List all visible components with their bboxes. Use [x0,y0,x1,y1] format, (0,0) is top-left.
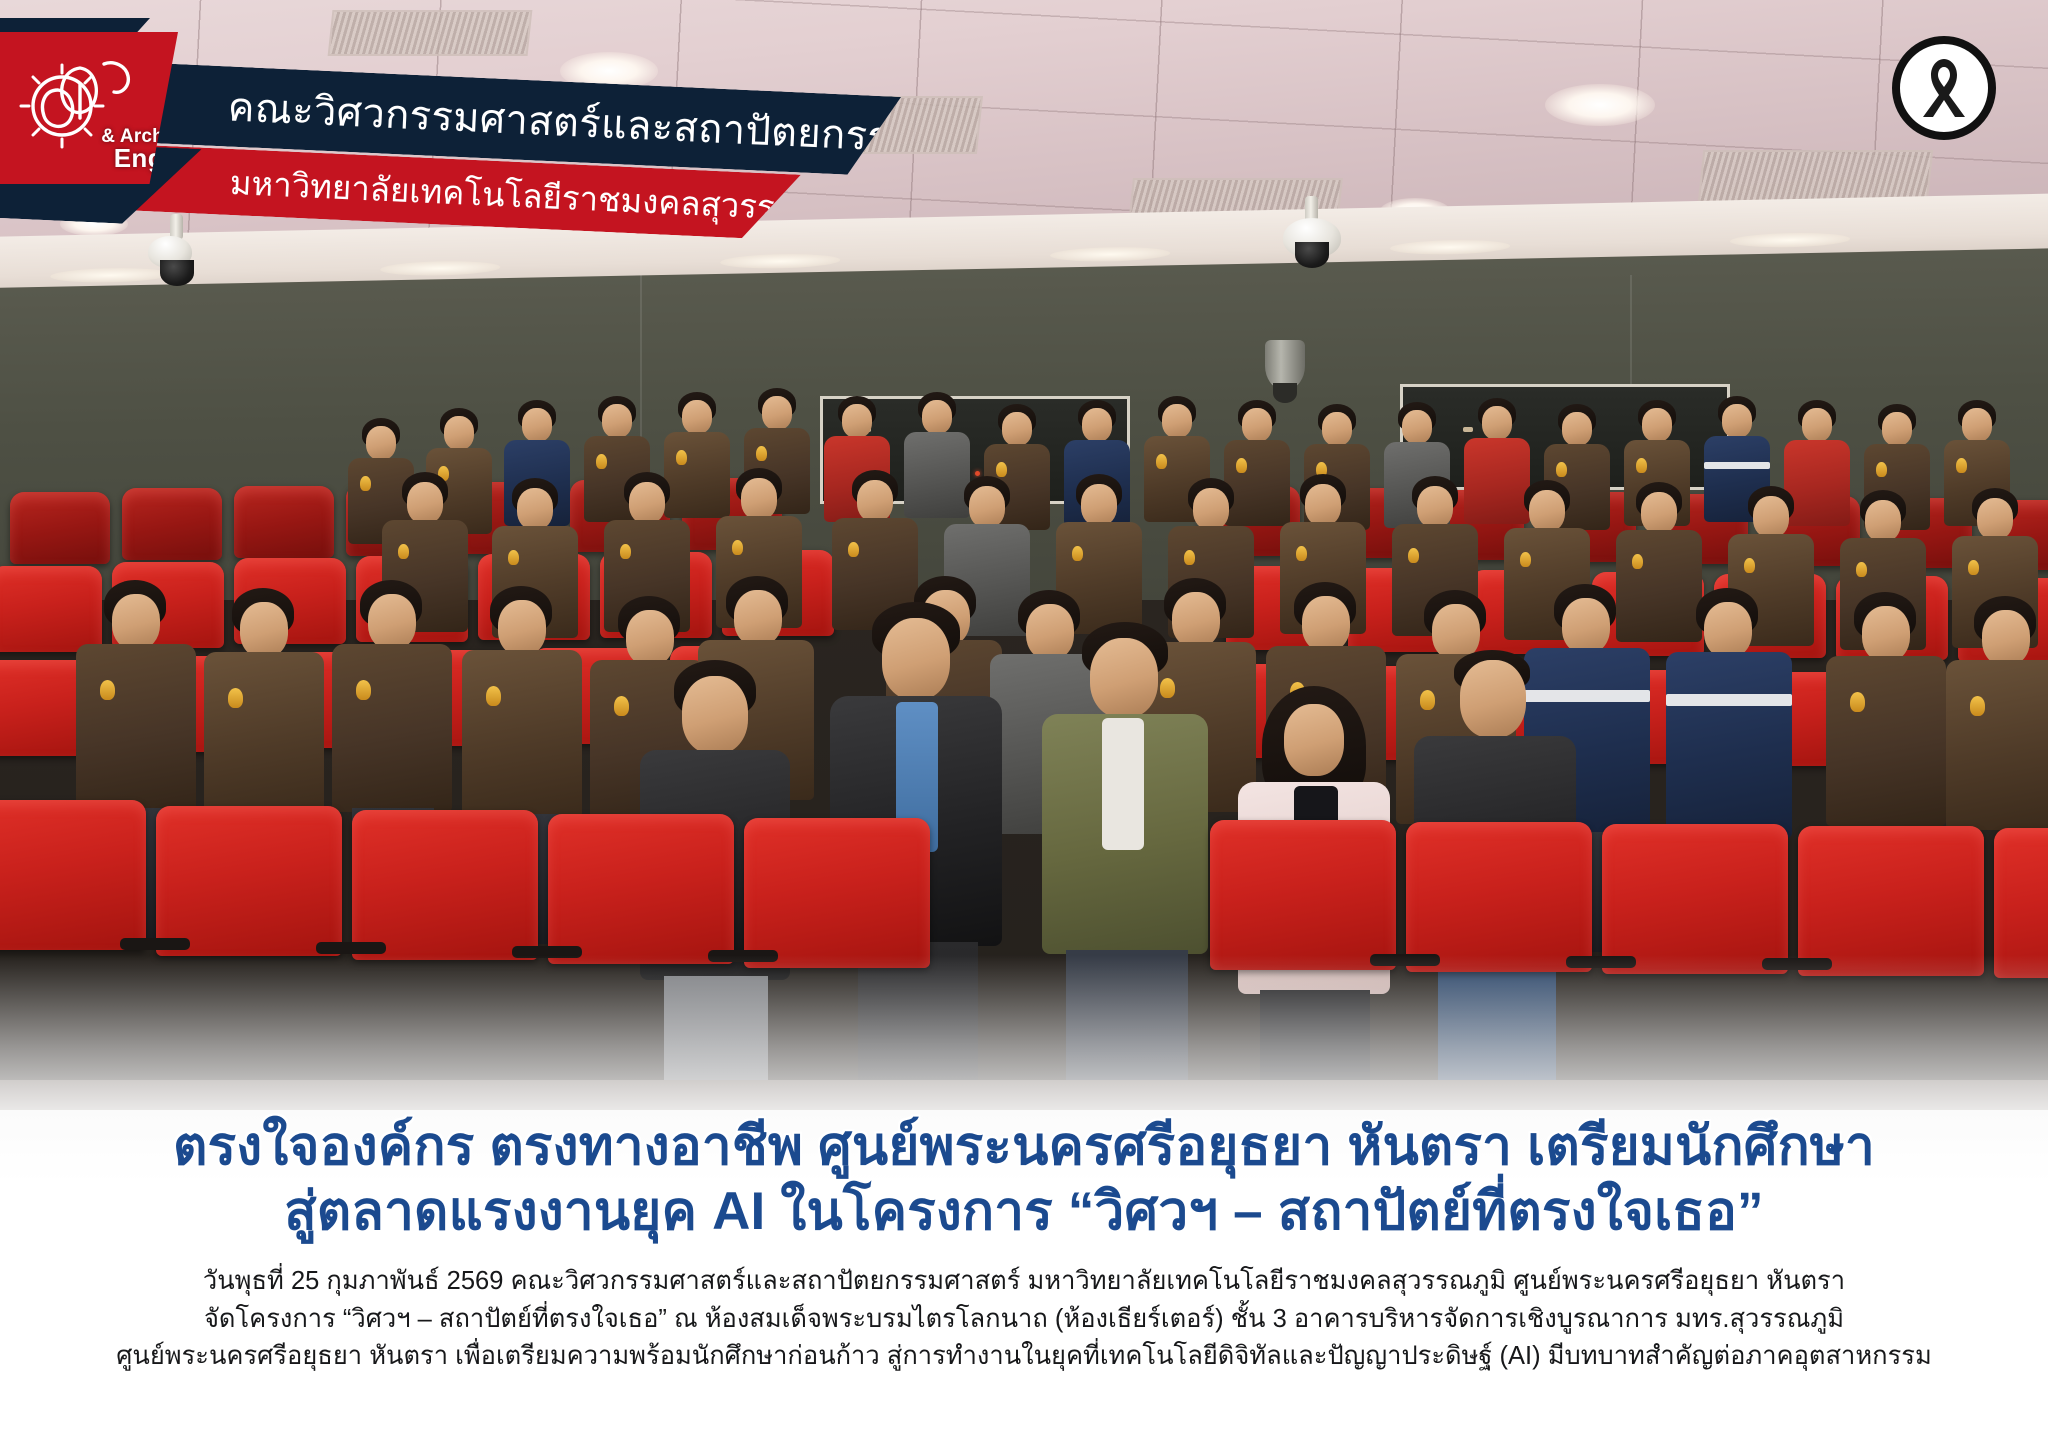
reflective-stripe [1704,462,1770,469]
reflective-stripe [1524,690,1650,702]
theater-seat [1406,822,1592,972]
body-line-2: จัดโครงการ “วิศวฯ – สถาปัตย์ที่ตรงใจเธอ”… [40,1301,2008,1339]
head [1982,610,2030,666]
crest-icon [732,540,743,555]
headline: ตรงใจองค์กร ตรงทางอาชีพ ศูนย์พระนครศรีอย… [0,1110,2048,1243]
theater-seat [1210,820,1396,970]
head [1753,496,1789,538]
crest-icon [1744,558,1755,573]
crest-icon [228,688,243,708]
head [1417,486,1453,528]
head [366,426,396,460]
crest-icon [486,686,501,706]
head [1642,408,1672,442]
crest-icon [1632,554,1643,569]
crest-icon [1072,546,1083,561]
ceiling-camera-icon [1283,218,1341,258]
head [1562,412,1592,446]
head [1002,412,1032,446]
head [857,480,893,522]
head [1865,500,1901,542]
head [762,396,792,430]
theater-seat [122,488,222,560]
soffit-light [380,260,500,277]
head [1802,408,1832,442]
head [882,618,950,700]
head [1460,660,1526,738]
crest-icon [1636,458,1647,473]
crest-icon [1970,696,1985,716]
uniform-brown [1224,440,1290,526]
head [682,400,712,434]
body-line-1: วันพุธที่ 25 กุมภาพันธ์ 2569 คณะวิศวกรรม… [40,1263,2008,1301]
head [1722,404,1752,438]
seat-armrest [120,938,190,950]
head [741,478,777,520]
ceiling-downlight [1545,84,1655,126]
crest-icon [1296,546,1307,561]
crest-icon [996,462,1007,477]
theater-seat [1602,824,1788,974]
uniform-brown [462,650,582,818]
headline-line2: สู่ตลาดแรงงานยุค AI ในโครงการ “วิศวฯ – ส… [0,1181,2048,1242]
head [444,416,474,450]
crest-icon [1956,458,1967,473]
crest-icon [1556,462,1567,477]
head [1402,410,1432,444]
theater-seat [234,486,334,558]
crest-icon [398,544,409,559]
uniform-red [1784,440,1850,526]
crest-icon [1968,560,1979,575]
head [1081,484,1117,526]
crest-icon [1420,690,1435,710]
head [1704,602,1752,658]
theater-seat [10,492,110,564]
head [1284,704,1344,776]
soffit-light [1390,239,1510,256]
head [734,590,782,646]
head [498,600,546,656]
head [1962,408,1992,442]
crest-icon [756,446,767,461]
head [522,408,552,442]
headline-line1: ตรงใจองค์กร ตรงทางอาชีพ ศูนย์พระนครศรีอย… [173,1117,1875,1176]
body-line-3: ศูนย์พระนครศรีอยุธยา หันตรา เพื่อเตรียมค… [40,1338,2008,1376]
head [629,482,665,524]
mourning-ribbon-badge [1892,36,1996,140]
poster-root: คณะวิศวกรรมศาสตร์และสถาปัตยกรรมศาสตร์ มห… [0,0,2048,1447]
crest-icon [614,696,629,716]
uniform-brown [1946,660,2048,830]
theater-seat [548,814,734,964]
head [407,482,443,524]
crest-icon [1876,462,1887,477]
ceiling-speaker-icon [1265,340,1305,390]
ceiling-vent [328,10,533,56]
head [1562,598,1610,654]
crest-icon [1156,454,1167,469]
head [1305,484,1341,526]
theater-seat [1798,826,1984,976]
head [1977,498,2013,540]
head [1641,492,1677,534]
head [1529,490,1565,532]
ribbon-icon [1913,53,1975,123]
crest-icon [356,680,371,700]
soffit-light [1730,232,1850,249]
crest-icon [596,454,607,469]
crest-icon [676,450,687,465]
window-light [1463,427,1473,432]
crest-icon [1856,562,1867,577]
head [682,676,748,754]
head [969,486,1005,528]
head [842,404,872,438]
head [1090,638,1158,718]
tshirt-white [1102,718,1144,850]
reflective-stripe [1666,694,1792,706]
theater-seat [0,800,146,950]
head [1882,412,1912,446]
theater-seat [0,566,102,652]
uniform-brown [332,644,452,812]
head [1026,604,1074,660]
head [112,594,160,650]
crest-icon [1160,678,1175,698]
crest-icon [848,542,859,557]
seat-armrest [316,942,386,954]
head [1082,408,1112,442]
faculty-logo[interactable]: & Arch Eng [0,32,178,184]
head [626,610,674,666]
theater-seat [156,806,342,956]
head [1482,406,1512,440]
uniform-brown [76,644,196,812]
theater-seat [744,818,930,968]
crest-icon [100,680,115,700]
crest-icon [1236,458,1247,473]
head [1162,404,1192,438]
head [1322,412,1352,446]
uniform-red [1464,438,1530,524]
uniform-gray [904,432,970,518]
theater-seat [352,810,538,960]
uniform-navy-coverall [1666,652,1792,838]
window-led [975,471,980,476]
head [1862,606,1910,662]
uniform-brown [204,652,324,820]
uniform-brown [1826,656,1946,826]
head [1302,596,1350,652]
head [1172,592,1220,648]
crest-icon [1850,692,1865,712]
head [1193,488,1229,530]
crest-icon [508,550,519,565]
body-paragraph: วันพุธที่ 25 กุมภาพันธ์ 2569 คณะวิศวกรรม… [0,1263,2048,1376]
caption-block: ตรงใจองค์กร ตรงทางอาชีพ ศูนย์พระนครศรีอย… [0,1110,2048,1447]
head [1242,408,1272,442]
crest-icon [1408,548,1419,563]
soffit-light [1050,246,1170,263]
head [240,602,288,658]
ceiling-camera-icon [148,236,192,268]
crest-icon [360,476,371,491]
soffit-light [50,267,170,284]
head [602,404,632,438]
uniform-brown [1616,530,1702,642]
crest-icon [1520,552,1531,567]
head [922,400,952,434]
uniform-brown [664,432,730,518]
head [368,594,416,650]
soffit-light [720,253,840,270]
crest-icon [620,544,631,559]
head [517,488,553,530]
crest-icon [1184,550,1195,565]
